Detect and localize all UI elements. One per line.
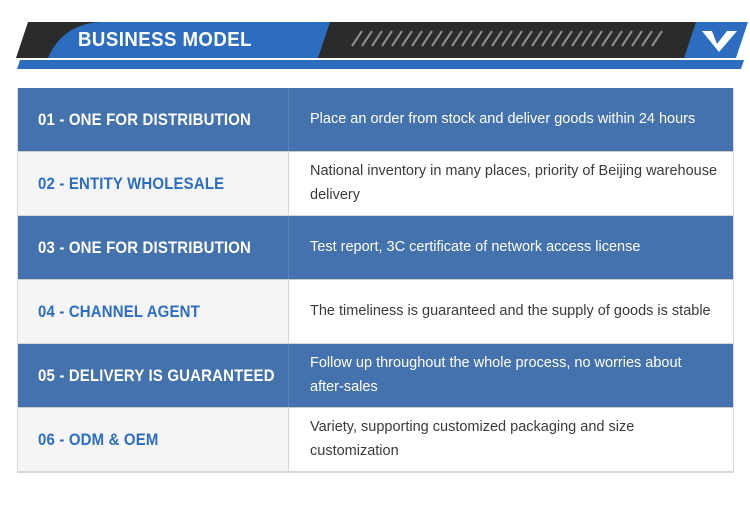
row-label-text: 02 - ENTITY WHOLESALE	[38, 174, 224, 194]
row-label-cell: 05 - DELIVERY IS GUARANTEED	[18, 344, 289, 407]
banner-underline	[17, 60, 744, 69]
table-row: 05 - DELIVERY IS GUARANTEED Follow up th…	[18, 344, 733, 408]
page-header-banner: BUSINESS MODEL	[0, 0, 750, 78]
row-label-cell: 02 - ENTITY WHOLESALE	[18, 152, 289, 215]
row-description-cell: Variety, supporting customized packaging…	[289, 408, 733, 471]
table-row: 06 - ODM & OEM Variety, supporting custo…	[18, 408, 733, 472]
row-description-cell: National inventory in many places, prior…	[289, 152, 733, 215]
table-row: 04 - CHANNEL AGENT The timeliness is gua…	[18, 280, 733, 344]
row-description-cell: Follow up throughout the whole process, …	[289, 344, 733, 407]
business-model-table: 01 - ONE FOR DISTRIBUTION Place an order…	[17, 88, 734, 473]
row-label-text: 04 - CHANNEL AGENT	[38, 302, 200, 322]
row-label-cell: 06 - ODM & OEM	[18, 408, 289, 471]
row-description-cell: Test report, 3C certificate of network a…	[289, 216, 733, 279]
row-label-text: 05 - DELIVERY IS GUARANTEED	[38, 366, 275, 386]
row-label-cell: 01 - ONE FOR DISTRIBUTION	[18, 88, 289, 151]
row-label-text: 03 - ONE FOR DISTRIBUTION	[38, 238, 251, 258]
row-label-cell: 04 - CHANNEL AGENT	[18, 280, 289, 343]
table-row: 01 - ONE FOR DISTRIBUTION Place an order…	[18, 88, 733, 152]
row-description-cell: The timeliness is guaranteed and the sup…	[289, 280, 733, 343]
row-label-text: 06 - ODM & OEM	[38, 430, 159, 450]
banner-title-shape	[48, 22, 330, 58]
table-row: 02 - ENTITY WHOLESALE National inventory…	[18, 152, 733, 216]
row-label-text: 01 - ONE FOR DISTRIBUTION	[38, 110, 251, 130]
banner-graphic	[0, 0, 750, 78]
row-label-cell: 03 - ONE FOR DISTRIBUTION	[18, 216, 289, 279]
table-row: 03 - ONE FOR DISTRIBUTION Test report, 3…	[18, 216, 733, 280]
row-description-cell: Place an order from stock and deliver go…	[289, 88, 733, 151]
